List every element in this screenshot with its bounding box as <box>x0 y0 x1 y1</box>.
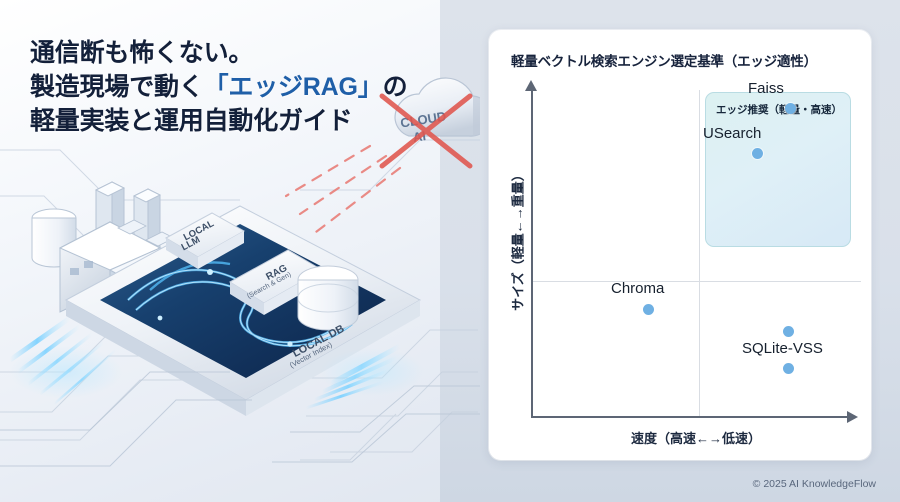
headline-line-1: 通信断も怖くない。 <box>30 36 430 70</box>
y-axis-label: サイズ（軽量←→重量） <box>508 150 527 330</box>
headline-emphasis: 「エッジRAG」 <box>204 73 383 101</box>
page-title: 通信断も怖くない。 製造現場で動く「エッジRAG」の 軽量実装と運用自動化ガイド <box>30 36 430 138</box>
y-axis-arrow-icon <box>525 80 537 91</box>
x-axis-line <box>531 416 849 418</box>
quadrant-highlight-edge-recommended: エッジ推奨（軽量・高速） <box>705 92 851 247</box>
point-sqlite-vss-lower[interactable] <box>783 363 794 374</box>
quadrant-divider-horizontal <box>531 281 861 282</box>
headline-line-3: 軽量実装と運用自動化ガイド <box>30 104 430 138</box>
point-faiss[interactable] <box>785 103 796 114</box>
x-axis-arrow-icon <box>847 411 858 423</box>
point-label-sqlite-vss: SQLite-VSS <box>742 340 823 357</box>
headline-line-2: 製造現場で動く「エッジRAG」の <box>30 70 430 104</box>
broken-link-dashes <box>286 146 400 232</box>
x-axis-label: 速度（高速←→低速） <box>531 428 861 447</box>
point-sqlite-vss-upper[interactable] <box>783 326 794 337</box>
copyright-footer: © 2025 AI KnowledgeFlow <box>753 478 876 490</box>
y-axis-line <box>531 88 533 418</box>
point-usearch[interactable] <box>752 148 763 159</box>
quadrant-divider-vertical <box>699 90 700 417</box>
point-label-faiss: Faiss <box>748 80 784 97</box>
headline-line-2-b: の <box>383 73 408 101</box>
headline-line-2-a: 製造現場で動く <box>30 73 204 101</box>
point-label-chroma: Chroma <box>611 280 664 297</box>
scatter-plot: サイズ（軽量←→重量） 速度（高速←→低速） エッジ推奨（軽量・高速） Fais… <box>489 30 871 460</box>
chart-panel: 軽量ベクトル検索エンジン選定基準（エッジ適性） サイズ（軽量←→重量） 速度（高… <box>489 30 871 460</box>
quadrant-highlight-label: エッジ推奨（軽量・高速） <box>716 102 842 117</box>
point-label-usearch: USearch <box>703 125 761 142</box>
screenshot-canvas: CLOUD AI <box>0 0 900 502</box>
point-chroma[interactable] <box>643 304 654 315</box>
